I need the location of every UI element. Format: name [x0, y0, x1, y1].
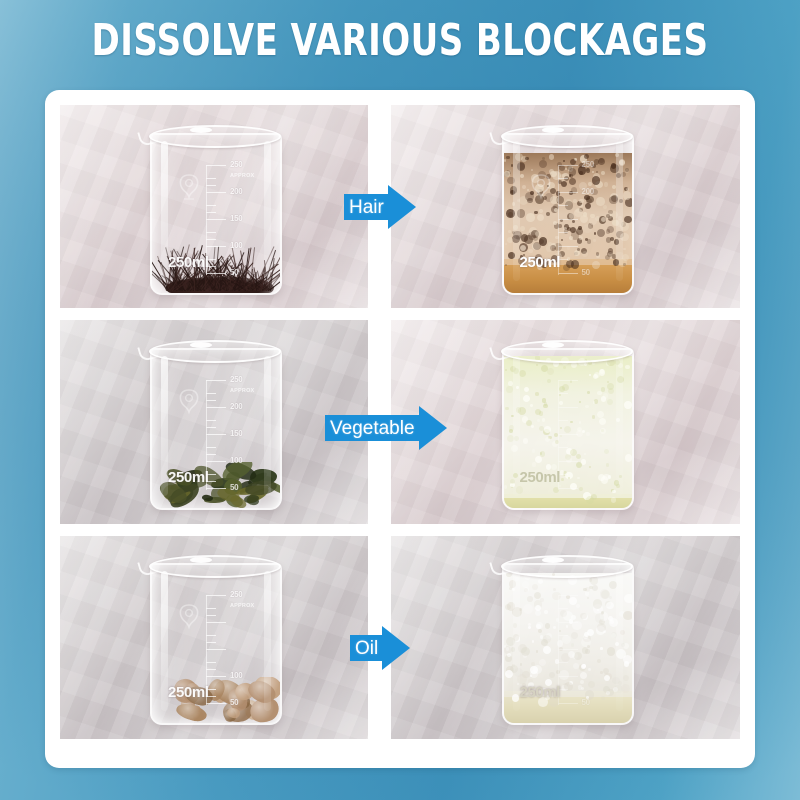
cell-oil-after[interactable]: 50 250ml	[391, 536, 740, 739]
foam-bubble	[615, 153, 620, 158]
foam-bubble	[531, 425, 534, 428]
beaker-rim	[501, 125, 633, 148]
foam-bubble	[544, 426, 551, 433]
foam-bubble	[507, 435, 514, 442]
beaker-vegetable-before: 250 APPROX 200 150	[150, 338, 278, 506]
foam-bubble	[518, 407, 526, 415]
foam-bubble	[535, 392, 539, 396]
foam-bubble	[532, 640, 535, 643]
foam-bubble	[619, 159, 626, 166]
foam-bubble	[584, 154, 589, 159]
foam-bubble	[539, 411, 544, 416]
foam-bubble	[547, 379, 551, 383]
foam-bubble	[540, 598, 544, 602]
volume-label: 250ml	[168, 469, 209, 486]
foam-bubble	[520, 174, 524, 178]
foam-bubble	[623, 611, 631, 621]
foam-bubble	[513, 231, 522, 240]
rim-highlight	[542, 127, 564, 133]
foam-bubble	[505, 407, 509, 411]
foam-bubble	[546, 212, 550, 216]
foam-bubble	[540, 451, 546, 457]
foam-bubble	[530, 404, 533, 407]
foam-bubble	[528, 626, 531, 629]
foam-bubble	[621, 643, 626, 648]
foam-bubble	[510, 190, 515, 195]
foam-bubble	[620, 222, 629, 231]
foam-bubble	[547, 368, 554, 375]
foam-bubble	[516, 486, 523, 493]
volume-label: 250ml	[168, 684, 209, 701]
foam-bubble	[537, 214, 545, 222]
foam-bubble	[532, 462, 536, 466]
cell-vegetable-after[interactable]: 250ml	[391, 320, 740, 523]
beaker-glass: 250 APPROX 100	[150, 563, 282, 725]
volume-label: 250ml	[520, 254, 561, 271]
beaker-oil-before: 250 APPROX 100	[150, 553, 278, 721]
foam-bubble	[546, 245, 552, 251]
rim-highlight	[542, 342, 564, 348]
foam-bubble	[523, 438, 528, 443]
beaker-rim	[149, 125, 281, 148]
foam-bubble	[506, 386, 512, 392]
foam-bubble	[516, 386, 518, 388]
foam-bubble	[511, 445, 518, 452]
foam-bubble	[508, 252, 515, 259]
foam-bubble	[543, 646, 551, 654]
foam-bubble	[625, 454, 632, 462]
graduation-scale: 250 APPROX 200 150	[206, 165, 264, 275]
beaker-hair-after: 250 200 50 250ml	[502, 123, 630, 291]
foam-bubble	[538, 629, 542, 633]
foam-bubble	[520, 226, 525, 231]
volume-label: 250ml	[168, 254, 209, 271]
foam-bubble	[592, 362, 595, 365]
foam-bubble	[538, 579, 543, 584]
foam-bubble	[593, 374, 598, 379]
foam-bubble	[549, 154, 555, 160]
foam-bubble	[609, 581, 617, 589]
foam-bubble	[536, 650, 539, 653]
graduation-scale: 250 APPROX 100	[206, 595, 264, 705]
foam-bubble	[616, 418, 620, 422]
page-title: DISSOLVE VARIOUS BLOCKAGES	[56, 18, 744, 64]
beaker-glass: 250 APPROX 200 150	[150, 133, 282, 295]
foam-bubble	[619, 199, 623, 203]
foam-bubble	[522, 671, 530, 679]
poster-root: DISSOLVE VARIOUS BLOCKAGES	[0, 0, 800, 800]
foam-bubble	[589, 586, 593, 590]
foam-bubble	[532, 584, 538, 590]
foam-bubble	[536, 364, 538, 366]
beaker-brand-emboss-icon	[526, 173, 556, 207]
foam-bubble	[505, 369, 507, 371]
foam-bubble	[512, 202, 516, 206]
foam-bubble	[514, 436, 519, 441]
foam-bubble	[549, 672, 555, 678]
foam-bubble	[526, 213, 535, 222]
foam-bubble	[509, 587, 512, 590]
foam-bubble	[542, 157, 545, 160]
foam-bubble	[584, 363, 587, 366]
foam-bubble	[620, 233, 628, 241]
foam-bubble	[513, 473, 519, 479]
foam-bubble	[619, 475, 621, 477]
beaker-rim	[501, 555, 633, 578]
graduation-scale: 250 APPROX 200 150	[206, 380, 264, 490]
foam-bubble	[623, 248, 626, 251]
beaker-oil-after: 50 250ml	[502, 553, 630, 721]
foam-bubble	[621, 684, 630, 693]
foam-bubble	[531, 169, 533, 171]
foam-bubble	[537, 419, 540, 422]
foam-bubble	[539, 237, 548, 246]
foam-bubble	[506, 156, 509, 159]
foam-bubble	[592, 585, 598, 591]
foam-bubble	[599, 369, 605, 375]
foam-bubble	[617, 376, 624, 383]
foam-bubble	[508, 170, 511, 173]
foam-bubble	[506, 573, 511, 577]
foam-bubble	[526, 420, 532, 426]
foam-bubble	[511, 647, 516, 652]
foam-bubble	[513, 623, 517, 627]
rim-highlight	[190, 342, 212, 348]
beaker-brand-emboss-icon	[174, 603, 204, 637]
beaker-glass: 250 APPROX 200 150	[150, 348, 282, 510]
beaker-rim	[149, 340, 281, 363]
foam-bubble	[511, 415, 514, 418]
foam-bubble	[527, 596, 532, 601]
foam-bubble	[519, 370, 526, 377]
foam-bubble	[507, 237, 513, 243]
foam-bubble	[515, 577, 519, 581]
beaker-brand-emboss-icon	[174, 173, 204, 207]
beaker-glass: 250 200 50 250ml	[502, 133, 634, 295]
foam-bubble	[589, 374, 591, 376]
foam-bubble	[504, 159, 507, 162]
foam-bubble	[520, 663, 522, 665]
foam-bubble	[543, 635, 551, 643]
foam-bubble	[504, 485, 508, 489]
foam-bubble	[539, 160, 547, 168]
foam-bubble	[523, 395, 530, 402]
foam-bubble	[545, 437, 550, 442]
foam-bubble	[519, 608, 522, 611]
beaker-glass: 250ml	[502, 348, 634, 510]
rim-highlight	[542, 557, 564, 563]
foam-bubble	[612, 490, 616, 494]
comparison-grid: 250 APPROX 200 150	[60, 105, 740, 739]
foam-bubble	[535, 610, 541, 616]
volume-label: 250ml	[520, 469, 561, 486]
foam-bubble	[539, 659, 546, 666]
foam-bubble	[508, 230, 511, 233]
foam-bubble	[624, 594, 631, 604]
cell-oil-before[interactable]: 250 APPROX 100	[60, 536, 368, 739]
foam-bubble	[544, 610, 548, 614]
foam-bubble	[507, 177, 514, 184]
foam-bubble	[513, 225, 518, 230]
foam-bubble	[542, 418, 545, 421]
foam-bubble	[506, 209, 515, 218]
beaker-rim	[149, 555, 281, 578]
foam-bubble	[553, 588, 557, 592]
rim-highlight	[190, 557, 212, 563]
foam-bubble	[509, 580, 516, 587]
foam-bubble	[505, 670, 513, 678]
foam-bubble	[623, 675, 629, 681]
foam-bubble	[623, 655, 631, 664]
foam-bubble	[621, 172, 626, 177]
foam-bubble	[539, 209, 543, 213]
cell-hair-after[interactable]: 250 200 50 250ml	[391, 105, 740, 308]
foam-bubble	[506, 637, 515, 646]
foam-bubble	[510, 479, 515, 484]
foam-bubble	[525, 157, 529, 161]
volume-label: 250ml	[520, 684, 561, 701]
foam-bubble	[511, 164, 513, 166]
foam-bubble	[625, 365, 630, 370]
graduation-scale	[558, 380, 616, 490]
rim-highlight	[190, 127, 212, 133]
foam-bubble	[533, 665, 542, 674]
foam-bubble	[509, 425, 515, 431]
graduation-scale: 250 200 50	[558, 165, 616, 275]
foam-bubble	[535, 231, 541, 237]
beaker-rim	[501, 340, 633, 363]
foam-bubble	[517, 163, 525, 171]
beaker-hair-before: 250 APPROX 200 150	[150, 123, 278, 291]
beaker-vegetable-after: 250ml	[502, 338, 630, 506]
foam-bubble	[515, 153, 524, 162]
foam-bubble	[616, 173, 621, 178]
foam-bubble	[544, 402, 548, 406]
foam-bubble	[513, 368, 519, 374]
beaker-glass: 50 250ml	[502, 563, 634, 725]
foam-bubble	[523, 604, 533, 614]
foam-bubble	[624, 401, 631, 409]
cell-vegetable-before[interactable]: 250 APPROX 200 150	[60, 320, 368, 523]
foam-bubble	[532, 449, 535, 452]
foam-bubble	[505, 243, 507, 245]
foam-bubble	[508, 381, 513, 386]
foam-bubble	[512, 694, 519, 701]
foam-bubble	[524, 387, 529, 392]
foam-bubble	[520, 245, 526, 251]
foam-bubble	[535, 605, 541, 611]
foam-bubble	[553, 626, 556, 629]
graduation-scale: 50	[558, 595, 616, 705]
foam-bubble	[563, 366, 566, 369]
foam-bubble	[611, 497, 617, 503]
foam-bubble	[563, 160, 566, 163]
foam-bubble	[545, 623, 551, 629]
foam-bubble	[620, 630, 625, 635]
cell-hair-before[interactable]: 250 APPROX 200 150	[60, 105, 368, 308]
foam-bubble	[512, 588, 515, 591]
beaker-brand-emboss-icon	[174, 388, 204, 422]
foam-bubble	[517, 209, 525, 217]
